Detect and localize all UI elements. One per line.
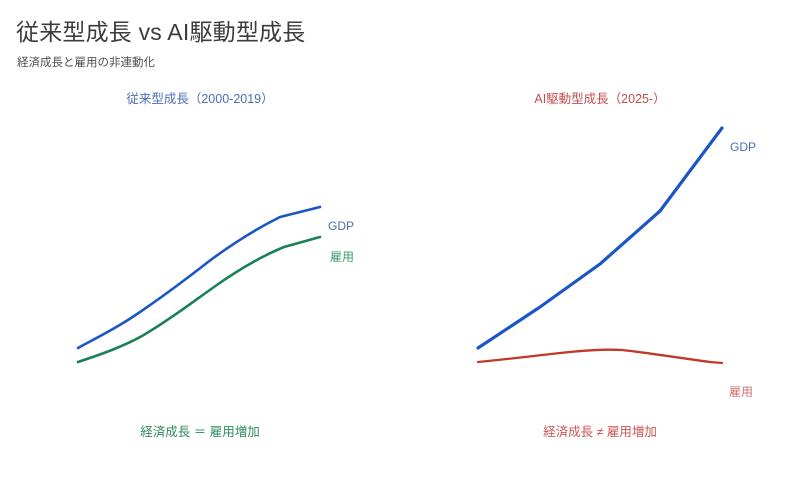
panel-caption-ai-driven: 経済成長 ≠ 雇用増加: [400, 423, 800, 441]
slide-canvas: 従来型成長 vs AI駆動型成長 経済成長と雇用の非連動化 従来型成長（2000…: [0, 0, 800, 500]
series-label-employment: 雇用: [330, 250, 354, 264]
series-label-gdp: GDP: [328, 219, 354, 233]
page-subtitle: 経済成長と雇用の非連動化: [17, 55, 155, 71]
line-chart-ai-driven: GDP 雇用: [400, 104, 800, 404]
series-line-gdp: [478, 128, 722, 348]
series-line-employment: [478, 350, 722, 363]
page-title: 従来型成長 vs AI駆動型成長: [16, 17, 305, 47]
panel-caption-traditional: 経済成長 ＝ 雇用増加: [0, 423, 400, 441]
series-line-employment: [78, 237, 320, 362]
series-line-gdp: [78, 207, 320, 348]
series-label-employment: 雇用: [729, 385, 753, 399]
series-label-gdp: GDP: [730, 140, 756, 154]
chart-panel-ai-driven: AI駆動型成長（2025-） GDP 雇用 経済成長 ≠ 雇用増加: [400, 84, 800, 464]
chart-panel-traditional: 従来型成長（2000-2019） GDP 雇用 経済成長 ＝ 雇用増加: [0, 84, 400, 464]
line-chart-traditional: GDP 雇用: [0, 104, 400, 404]
